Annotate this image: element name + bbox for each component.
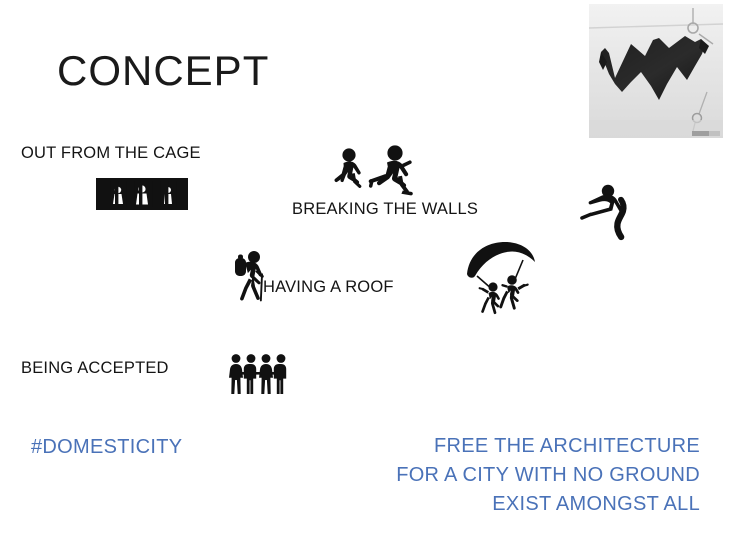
- jail-cage-glyph: [96, 178, 188, 210]
- caption-out-from-the-cage: OUT FROM THE CAGE: [21, 145, 201, 162]
- diving-person-icon: [578, 181, 640, 243]
- running-people-icon: [330, 143, 426, 205]
- diving-person-glyph: [578, 181, 640, 243]
- group-of-people-glyph: [228, 353, 288, 395]
- hiker-with-backpack-icon: [230, 249, 276, 303]
- presentation-slide: CONCEPT: [0, 0, 730, 548]
- photo-watermark: [692, 131, 720, 136]
- manifesto-block: FREE THE ARCHITECTURE FOR A CITY WITH NO…: [330, 432, 700, 519]
- hiker-glyph: [230, 249, 276, 303]
- running-people-glyph: [330, 143, 426, 205]
- manifesto-line-3: EXIST AMONGST ALL: [330, 490, 700, 519]
- caption-having-a-roof: HAVING A ROOF: [263, 279, 394, 296]
- page-title: CONCEPT: [57, 50, 269, 92]
- caption-being-accepted: BEING ACCEPTED: [21, 360, 169, 377]
- hashtag-domesticity: #DOMESTICITY: [31, 437, 182, 457]
- tensile-membrane-structure-photo: [589, 4, 723, 138]
- photo-image: [589, 4, 723, 138]
- manifesto-line-2: FOR A CITY WITH NO GROUND: [330, 461, 700, 490]
- jail-cage-icon: [96, 178, 188, 210]
- manifesto-line-1: FREE THE ARCHITECTURE: [330, 432, 700, 461]
- group-of-people-icon: [228, 353, 288, 395]
- paraglider-glyph: [465, 240, 537, 316]
- paraglider-icon: [465, 240, 537, 316]
